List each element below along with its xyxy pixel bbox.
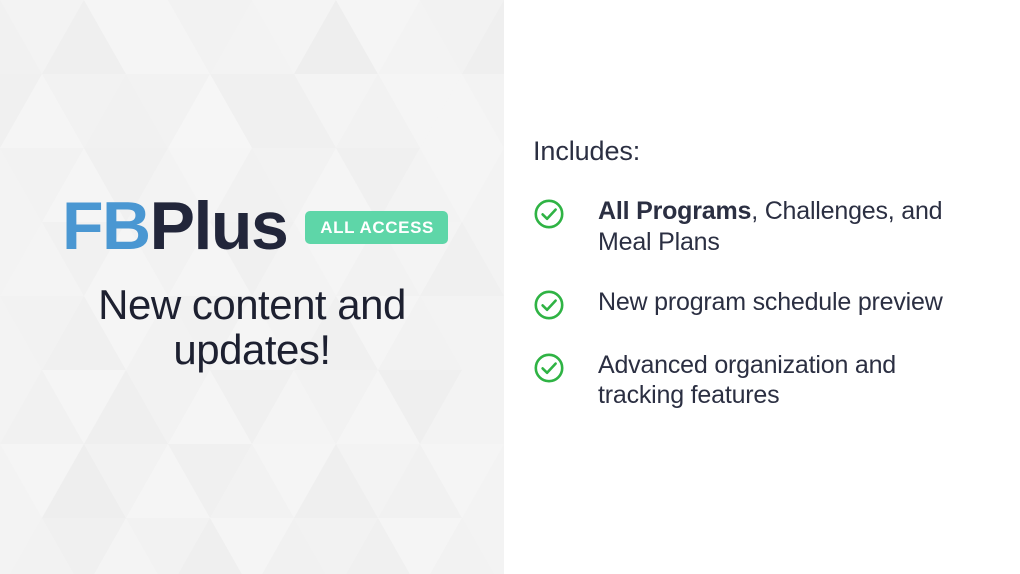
promo-slide: FBPlus ALL ACCESS New content and update… <box>0 0 1020 574</box>
feature-rest: Advanced organization and tracking featu… <box>598 351 896 410</box>
wordmark-fb: FB <box>62 188 150 264</box>
list-item: All Programs, Challenges, and Meal Plans <box>533 196 980 258</box>
feature-text: New program schedule preview <box>598 287 943 318</box>
feature-rest: New program schedule preview <box>598 288 943 316</box>
includes-heading: Includes: <box>533 138 980 165</box>
feature-bold-prefix: All Programs <box>598 197 751 225</box>
wordmark-plus: Plus <box>150 188 288 264</box>
left-brand-panel: FBPlus ALL ACCESS New content and update… <box>0 0 504 574</box>
list-item: New program schedule preview <box>533 287 980 321</box>
tagline: New content and updates! <box>87 282 417 373</box>
left-panel-content: FBPlus ALL ACCESS New content and update… <box>0 0 504 574</box>
feature-text: All Programs, Challenges, and Meal Plans <box>598 196 973 258</box>
check-circle-icon <box>533 198 565 230</box>
feature-text: Advanced organization and tracking featu… <box>598 350 973 412</box>
list-item: Advanced organization and tracking featu… <box>533 350 980 412</box>
check-circle-icon <box>533 289 565 321</box>
feature-list: All Programs, Challenges, and Meal Plans… <box>533 196 980 411</box>
brand-logo: FBPlus ALL ACCESS <box>62 192 448 260</box>
right-features-panel: Includes: All Programs, Challenges, and … <box>504 0 1020 574</box>
check-circle-icon <box>533 352 565 384</box>
all-access-badge: ALL ACCESS <box>305 211 448 244</box>
brand-wordmark: FBPlus <box>62 192 287 260</box>
